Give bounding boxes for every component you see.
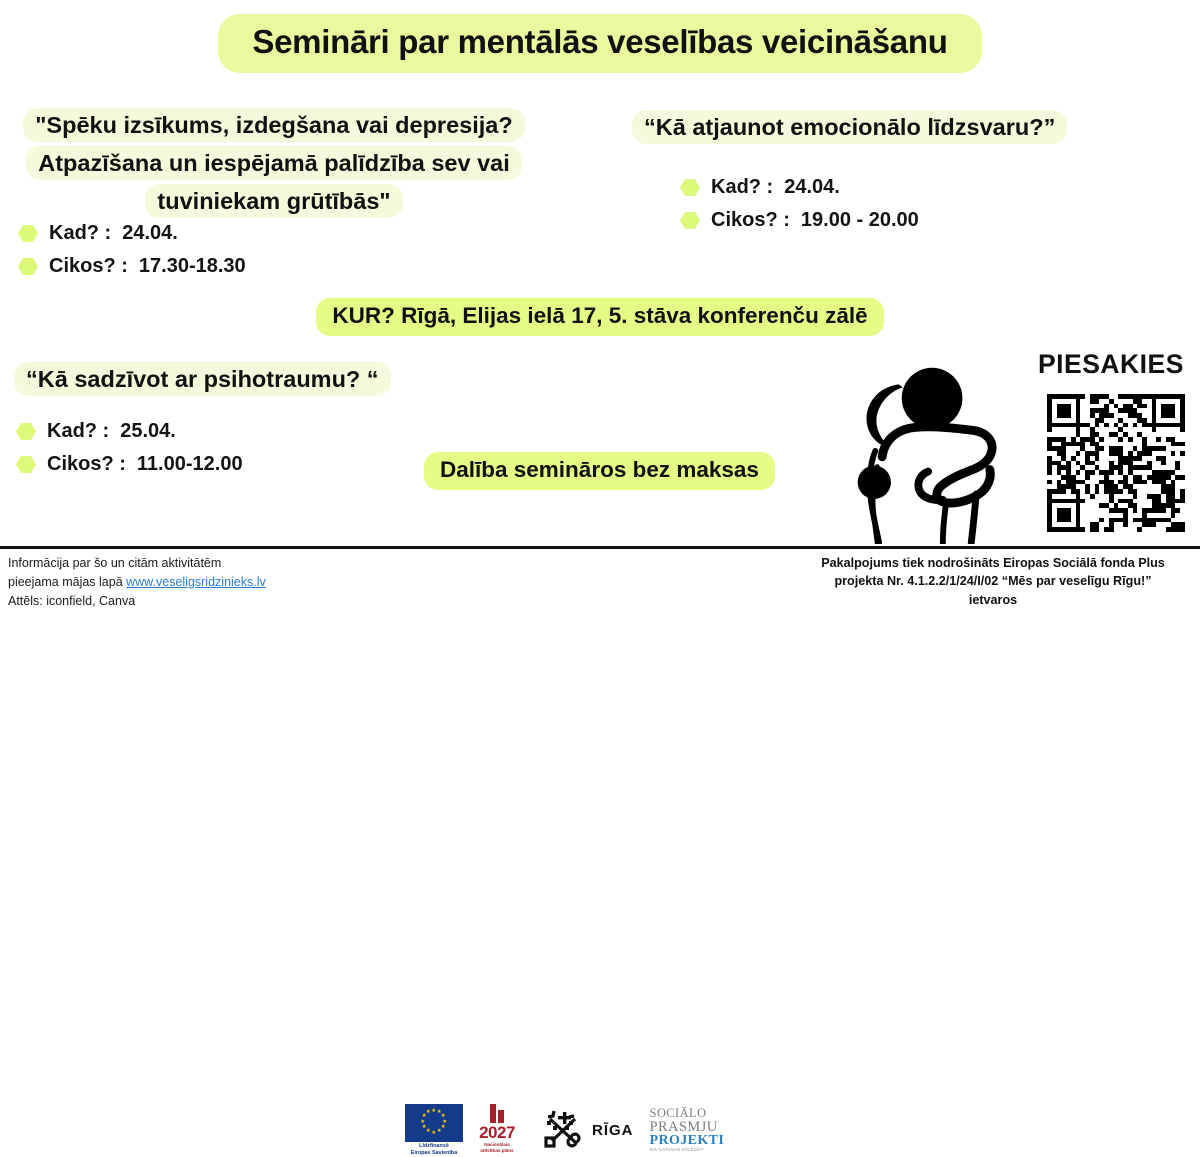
location-banner: KUR? Rīgā, Elijas ielā 17, 5. stāva konf… [0, 298, 1200, 336]
eu-funding-logo: ★★★★★★★★★★★★ Līdzfinansē Eiropas Savienī… [405, 1104, 525, 1157]
detail-label: Kad? : [47, 420, 109, 443]
detail-label: Cikos? : [49, 255, 128, 278]
detail-value: 19.00 - 20.00 [801, 209, 919, 232]
detail-value: 24.04. [784, 176, 840, 199]
qr-code[interactable] [1047, 394, 1185, 532]
spp-line4: SIA "LATVIJAS KOLĒDŽA" [650, 1148, 725, 1152]
footer: Informācija par šo un citām aktivitātēm … [0, 549, 1200, 612]
list-item: Cikos? : 19.00 - 20.00 [680, 209, 919, 232]
nap-caption-line2: attīstības plāns [469, 1148, 525, 1154]
footer-info-line1: Informācija par šo un citām aktivitātēm [8, 554, 266, 573]
seminar-psychotrauma-heading-text: “Kā sadzīvot ar psihotraumu? “ [14, 362, 391, 396]
hexagon-bullet-icon [16, 456, 36, 474]
nap-bars-icon [469, 1104, 525, 1123]
list-item: Cikos? : 17.30-18.30 [18, 255, 246, 278]
funding-line3: ietvaros [790, 591, 1196, 609]
detail-label: Kad? : [49, 222, 111, 245]
page-title: Semināri par mentālās veselības veicināš… [0, 14, 1200, 73]
list-item: Kad? : 25.04. [16, 420, 243, 443]
free-participation-banner: Dalība semināros bez maksas [424, 452, 775, 490]
seminar-burnout-heading: "Spēku izsīkums, izdegšana vai depresija… [18, 106, 530, 220]
seminar-burnout-heading-text: "Spēku izsīkums, izdegšana vai depresija… [23, 108, 524, 218]
website-link[interactable]: www.veseligsridzinieks.lv [126, 575, 266, 589]
list-item: Kad? : 24.04. [18, 222, 246, 245]
spp-line3: PROJEKTI [650, 1134, 725, 1148]
hexagon-bullet-icon [680, 179, 700, 197]
seminar-burnout-details: Kad? : 24.04. Cikos? : 17.30-18.30 [18, 222, 246, 288]
free-participation-text: Dalība semināros bez maksas [424, 452, 775, 490]
riga-city-logo: RĪGA [541, 1110, 634, 1150]
footer-left-text: Informācija par šo un citām aktivitātēm … [8, 554, 266, 611]
hexagon-bullet-icon [680, 212, 700, 230]
socialo-prasmju-projekti-logo: SOCIĀLO PRASMJU PROJEKTI SIA "LATVIJAS K… [650, 1107, 725, 1152]
detail-value: 17.30-18.30 [139, 255, 246, 278]
hexagon-bullet-icon [16, 423, 36, 441]
riga-wordmark: RĪGA [592, 1122, 634, 1139]
hug-embrace-illustration [842, 356, 1028, 544]
detail-value: 25.04. [120, 420, 176, 443]
page-title-pill: Semināri par mentālās veselības veicināš… [218, 14, 981, 73]
riga-coat-of-arms-icon [541, 1110, 585, 1150]
detail-label: Cikos? : [47, 453, 126, 476]
funding-line2: projekta Nr. 4.1.2.2/1/24/I/02 “Mēs par … [790, 572, 1196, 590]
seminar-emotional-balance-heading-text: “Kā atjaunot emocionālo līdzsvaru?” [632, 110, 1067, 144]
nap-2027-logo: 2027 Nacionālais attīstības plāns [469, 1104, 525, 1154]
footer-image-credit: Attēls: iconfield, Canva [8, 592, 266, 611]
detail-value: 11.00-12.00 [137, 453, 243, 476]
footer-logos: ★★★★★★★★★★★★ Līdzfinansē Eiropas Savienī… [405, 1103, 724, 1157]
spp-line2: PRASMJU [650, 1120, 725, 1135]
footer-right-text: Pakalpojums tiek nodrošināts Eiropas Soc… [790, 554, 1196, 609]
detail-label: Cikos? : [711, 209, 790, 232]
eu-caption: Līdzfinansē Eiropas Savienība [405, 1143, 463, 1157]
hexagon-bullet-icon [18, 225, 38, 243]
eu-caption-line2: Eiropas Savienība [405, 1150, 463, 1157]
eu-caption-line1: Līdzfinansē [405, 1143, 463, 1150]
list-item: Cikos? : 11.00-12.00 [16, 453, 243, 476]
funding-line1: Pakalpojums tiek nodrošināts Eiropas Soc… [790, 554, 1196, 572]
list-item: Kad? : 24.04. [680, 176, 919, 199]
seminar-emotional-balance-details: Kad? : 24.04. Cikos? : 19.00 - 20.00 [680, 176, 919, 242]
detail-value: 24.04. [122, 222, 178, 245]
signup-label: PIESAKIES [1038, 349, 1184, 380]
seminar-emotional-balance-heading: “Kā atjaunot emocionālo līdzsvaru?” [632, 108, 1192, 146]
seminar-psychotrauma-details: Kad? : 25.04. Cikos? : 11.00-12.00 [16, 420, 243, 486]
location-banner-text: KUR? Rīgā, Elijas ielā 17, 5. stāva konf… [316, 298, 883, 336]
poster-canvas: Semināri par mentālās veselības veicināš… [0, 0, 1200, 612]
footer-info-line2-prefix: pieejama mājas lapā [8, 575, 126, 589]
spp-line1: SOCIĀLO [650, 1107, 725, 1120]
seminar-psychotrauma-heading: “Kā sadzīvot ar psihotraumu? “ [14, 360, 534, 398]
footer-info-line2: pieejama mājas lapā www.veseligsridzinie… [8, 573, 266, 592]
eu-flag-icon: ★★★★★★★★★★★★ [405, 1104, 463, 1142]
hexagon-bullet-icon [18, 258, 38, 276]
nap-year: 2027 [469, 1124, 525, 1141]
detail-label: Kad? : [711, 176, 773, 199]
nap-caption: Nacionālais attīstības plāns [469, 1142, 525, 1154]
